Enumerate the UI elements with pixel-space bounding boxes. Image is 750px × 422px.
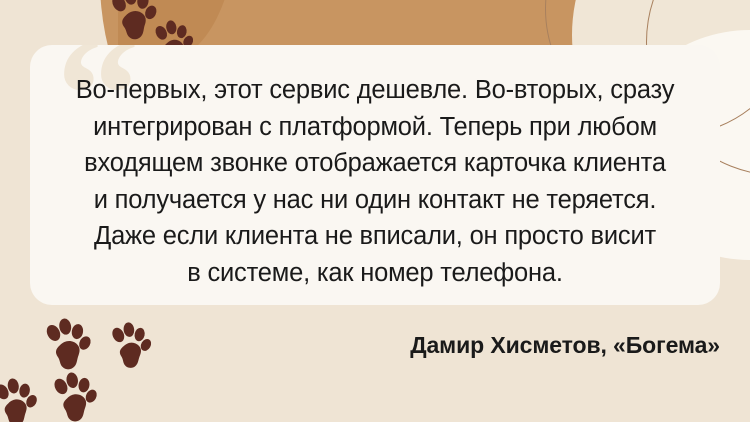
quote-card: “ Во-первых, этот сервис дешевле. Во-вто… <box>30 45 720 305</box>
quote-line: входящем звонке отображается карточка кл… <box>56 145 694 182</box>
quote-card-graphic: “ Во-первых, этот сервис дешевле. Во-вто… <box>0 0 750 422</box>
quote-text-block: Во-первых, этот сервис дешевле. Во-вторы… <box>30 45 720 291</box>
quote-attribution: Дамир Хисметов, «Богема» <box>410 332 720 359</box>
paw-print-icon <box>0 372 46 422</box>
quote-line: и получается у нас ни один контакт не те… <box>56 182 694 219</box>
quote-line: Во-первых, этот сервис дешевле. Во-вторы… <box>56 72 694 109</box>
quote-line: Даже если клиента не вписали, он просто … <box>56 218 694 255</box>
quote-line: интегрирован с платформой. Теперь при лю… <box>56 109 694 146</box>
paw-print-icon <box>99 317 158 376</box>
quote-line: в системе, как номер телефона. <box>56 255 694 292</box>
